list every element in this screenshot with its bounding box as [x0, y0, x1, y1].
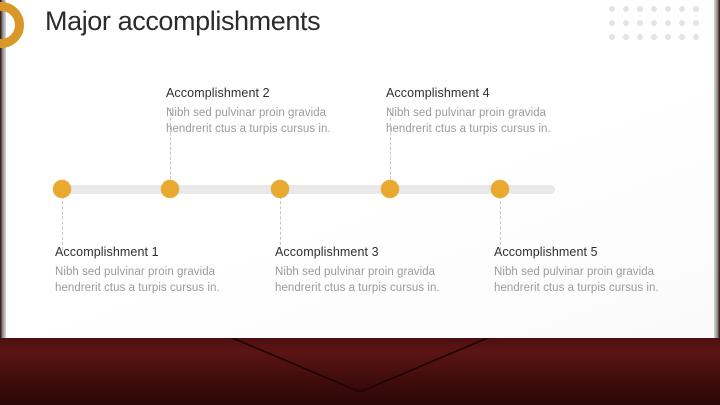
grid-dot: [623, 6, 629, 12]
slide-edge-left: [0, 0, 6, 338]
item-title: Accomplishment 3: [275, 245, 475, 259]
presentation-slide: Major accomplishments Accomplishment 2 N…: [0, 0, 720, 405]
grid-dot: [623, 20, 629, 26]
item-description: Nibh sed pulvinar proin gravida hendreri…: [275, 264, 475, 296]
grid-dot: [637, 34, 643, 40]
footer-band: [0, 336, 720, 405]
connector-line-5: [500, 196, 501, 250]
timeline-item-5: Accomplishment 5 Nibh sed pulvinar proin…: [494, 245, 694, 296]
timeline-item-1: Accomplishment 1 Nibh sed pulvinar proin…: [55, 245, 255, 296]
timeline-marker-1[interactable]: [53, 180, 71, 198]
page-title: Major accomplishments: [45, 6, 320, 37]
item-title: Accomplishment 4: [386, 86, 586, 100]
timeline-item-4: Accomplishment 4 Nibh sed pulvinar proin…: [386, 86, 586, 137]
grid-dot: [693, 6, 699, 12]
grid-dot: [665, 34, 671, 40]
grid-dot: [651, 34, 657, 40]
grid-dot: [679, 20, 685, 26]
grid-dot: [679, 34, 685, 40]
dot-grid-decoration: [609, 6, 707, 48]
timeline-marker-5[interactable]: [491, 180, 509, 198]
timeline-item-2: Accomplishment 2 Nibh sed pulvinar proin…: [166, 86, 366, 137]
connector-line-3: [280, 196, 281, 250]
timeline-bar: [55, 185, 555, 194]
timeline-marker-3[interactable]: [271, 180, 289, 198]
grid-dot: [623, 34, 629, 40]
timeline-marker-4[interactable]: [381, 180, 399, 198]
item-title: Accomplishment 2: [166, 86, 366, 100]
item-description: Nibh sed pulvinar proin gravida hendreri…: [166, 105, 366, 137]
grid-dot: [609, 34, 615, 40]
item-title: Accomplishment 5: [494, 245, 694, 259]
timeline-marker-2[interactable]: [161, 180, 179, 198]
item-description: Nibh sed pulvinar proin gravida hendreri…: [386, 105, 586, 137]
grid-dot: [665, 6, 671, 12]
grid-dot: [651, 20, 657, 26]
grid-dot: [609, 20, 615, 26]
grid-dot: [693, 20, 699, 26]
item-description: Nibh sed pulvinar proin gravida hendreri…: [494, 264, 694, 296]
grid-dot: [693, 34, 699, 40]
grid-dot: [665, 20, 671, 26]
connector-line-1: [62, 196, 63, 250]
grid-dot: [637, 6, 643, 12]
slide-edge-right: [714, 0, 720, 338]
item-description: Nibh sed pulvinar proin gravida hendreri…: [55, 264, 255, 296]
timeline-item-3: Accomplishment 3 Nibh sed pulvinar proin…: [275, 245, 475, 296]
item-title: Accomplishment 1: [55, 245, 255, 259]
grid-dot: [637, 20, 643, 26]
grid-dot: [679, 6, 685, 12]
grid-dot: [609, 6, 615, 12]
grid-dot: [651, 6, 657, 12]
